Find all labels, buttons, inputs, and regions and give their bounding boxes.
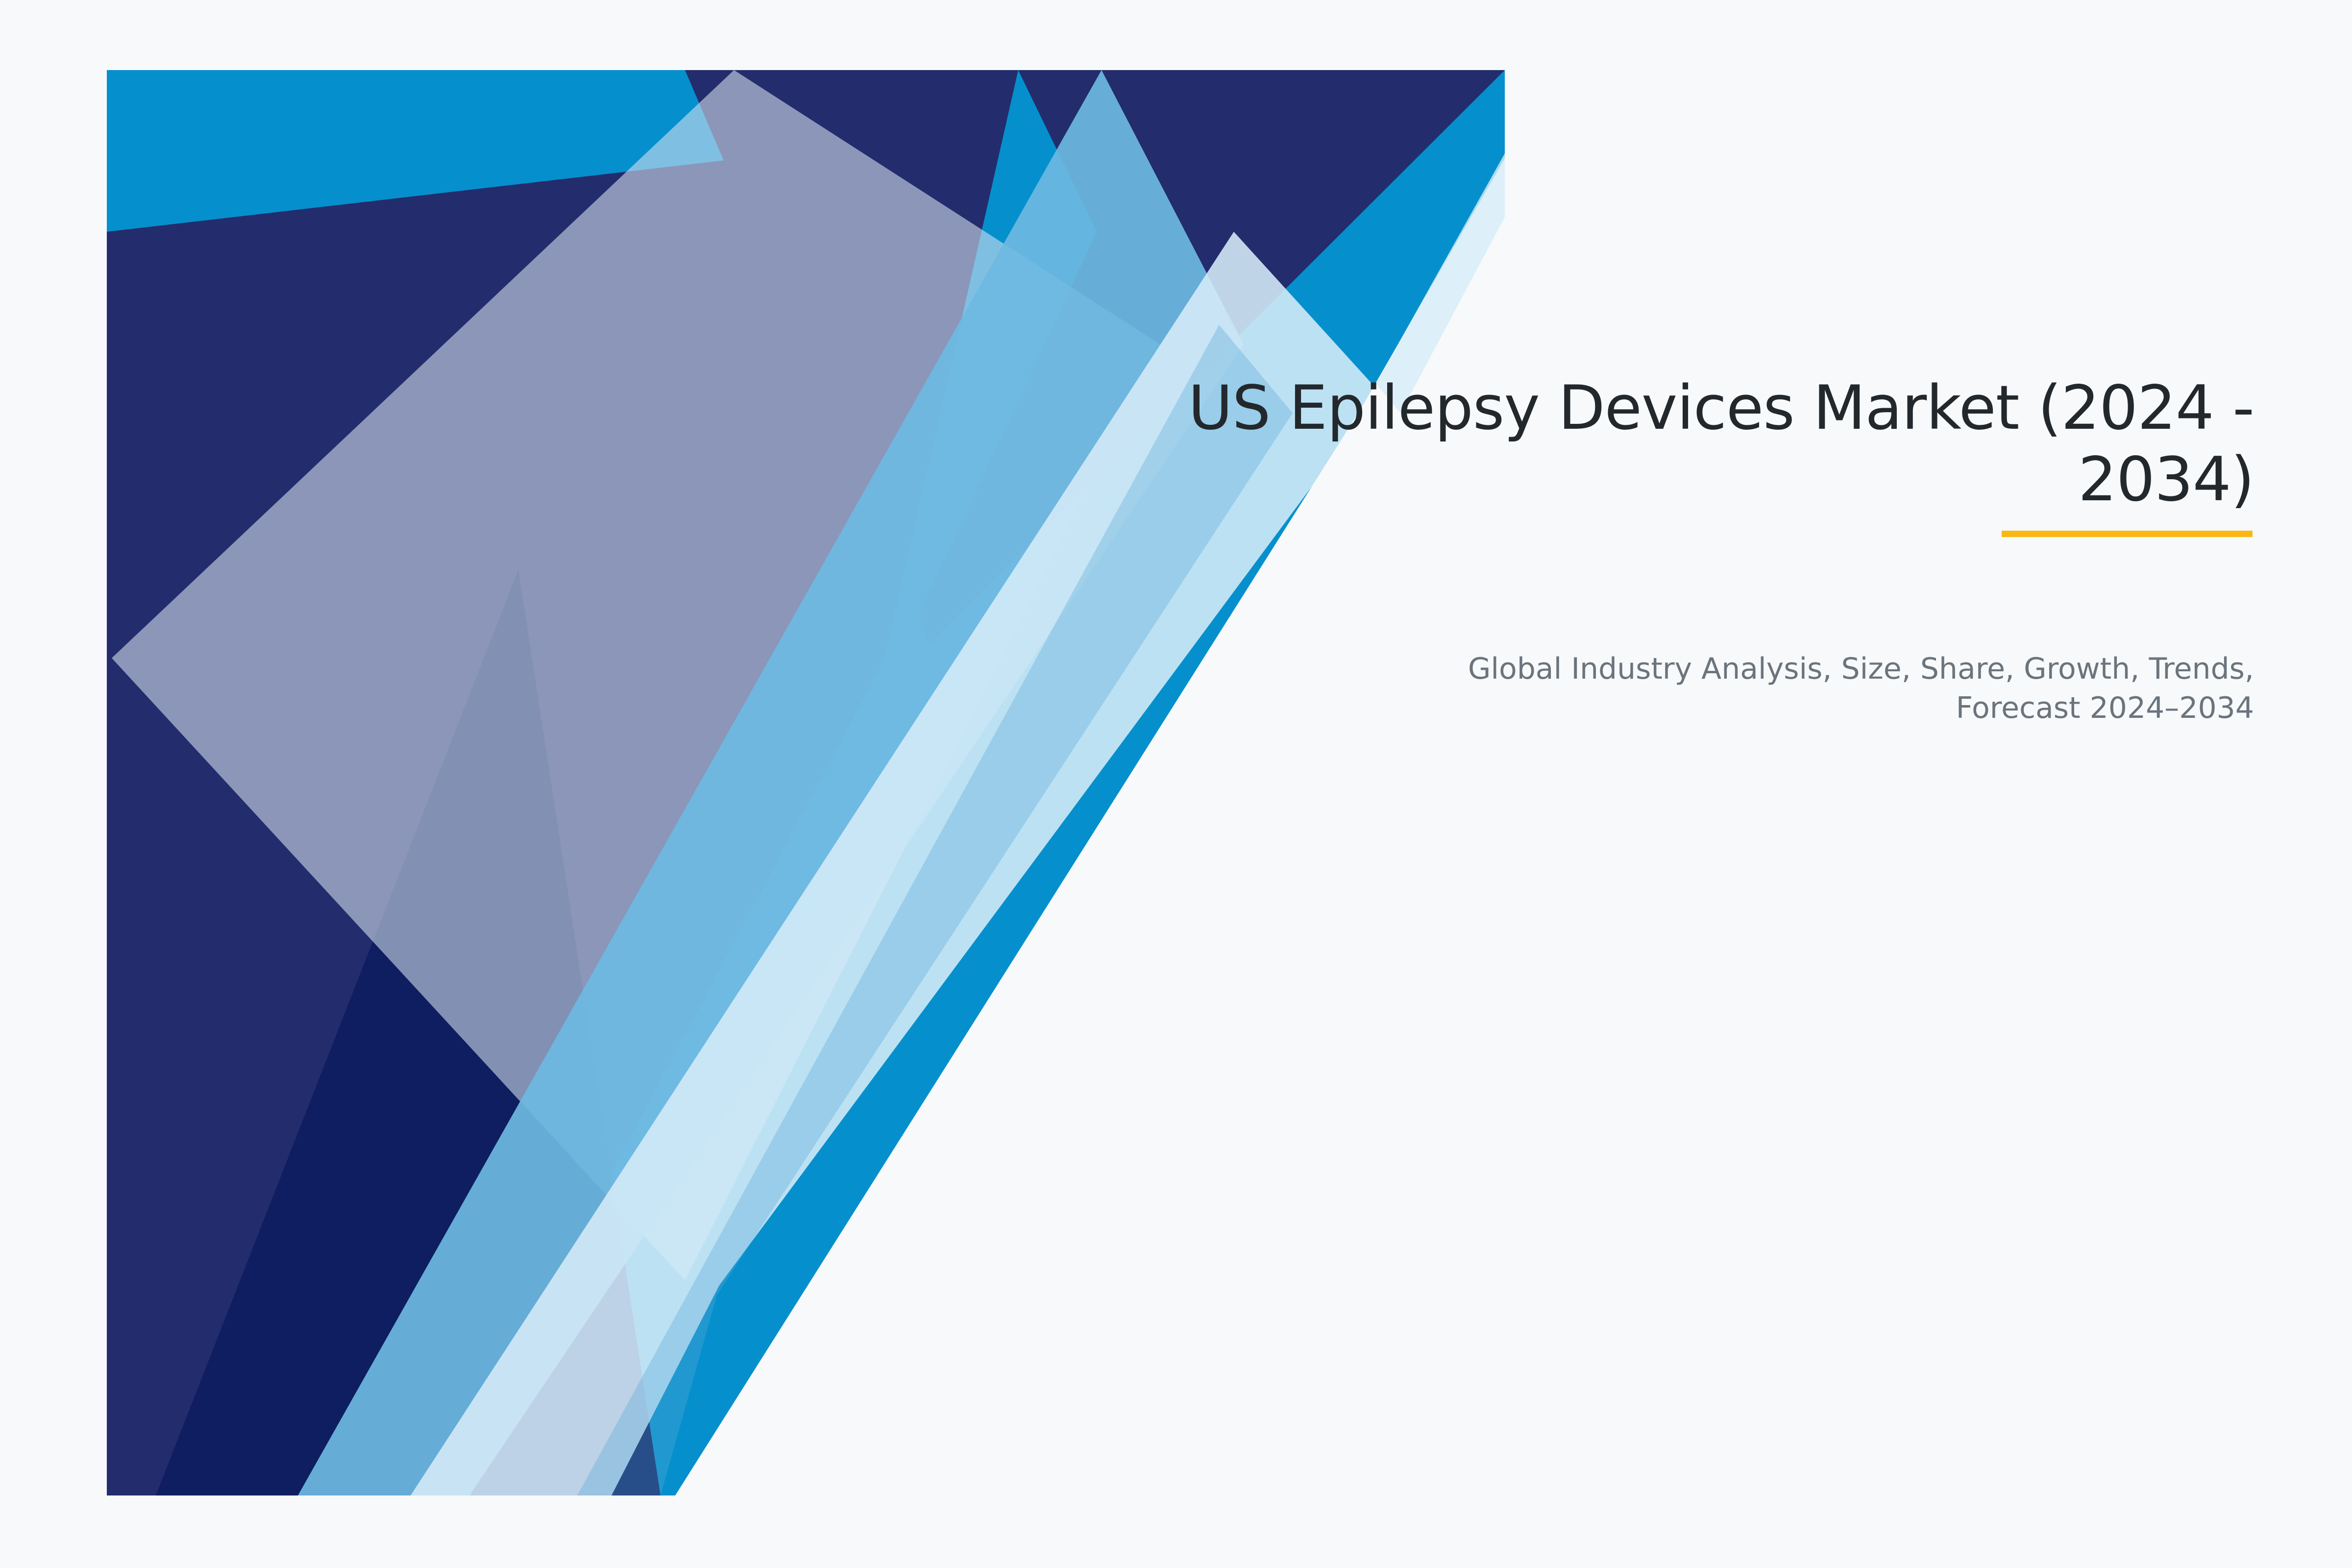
report-cover: US Epilepsy Devices Market (2024 - 2034)… <box>0 0 2352 1568</box>
artwork-canvas <box>107 70 1505 1495</box>
abstract-geometric-artwork <box>107 70 1505 1495</box>
page-subtitle: Global Industry Analysis, Size, Share, G… <box>1421 649 2254 728</box>
page-title: US Epilepsy Devices Market (2024 - 2034) <box>1078 372 2254 516</box>
title-accent-underline <box>2002 531 2253 537</box>
subtitle-block: Global Industry Analysis, Size, Share, G… <box>1421 649 2254 728</box>
title-block: US Epilepsy Devices Market (2024 - 2034) <box>1078 372 2254 516</box>
